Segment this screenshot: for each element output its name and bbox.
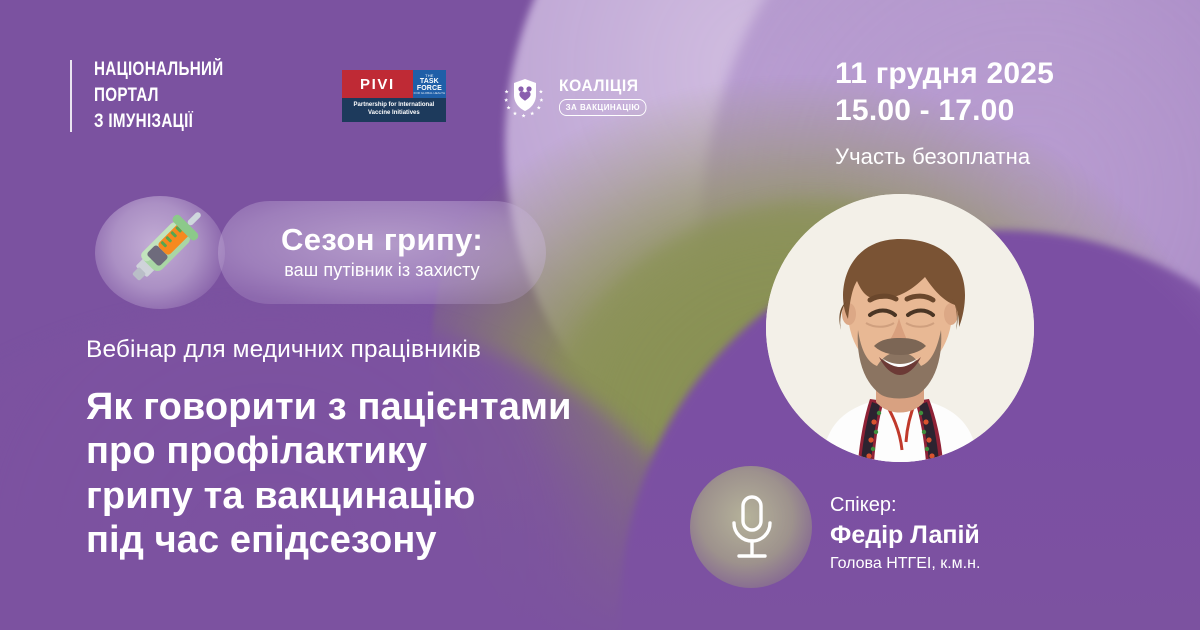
shield-with-stars-icon [502, 73, 548, 119]
headline-line-2: про профілактику [86, 429, 572, 473]
pivi-logo[interactable]: PIVI THE TASK FORCE FOR GLOBAL HEALTH Pa… [342, 70, 446, 121]
coalition-title: КОАЛІЦІЯ [559, 76, 645, 96]
headline-line-1: Як говорити з пацієнтами [86, 385, 572, 429]
speaker-photo [766, 194, 1034, 462]
logo-divider-rule [70, 60, 72, 132]
event-date-block: 11 грудня 2025 15.00 - 17.00 Участь безо… [835, 56, 1054, 170]
syringe-icon [105, 198, 217, 311]
microphone-icon [726, 494, 778, 565]
portal-logo-line-3: З ІМУНІЗАЦІЇ [94, 112, 224, 132]
national-immunization-portal-logo[interactable]: НАЦІОНАЛЬНИЙ ПОРТАЛ З ІМУНІЗАЦІЇ [70, 60, 256, 132]
task-force-mark: THE TASK FORCE FOR GLOBAL HEALTH [413, 70, 446, 98]
headline-line-3: грипу та вакцинацію [86, 474, 572, 518]
event-price-note: Участь безоплатна [835, 144, 1054, 170]
microphone-icon-backdrop [690, 466, 812, 588]
speaker-role-label: Спікер: [830, 493, 980, 518]
webinar-banner: НАЦІОНАЛЬНИЙ ПОРТАЛ З ІМУНІЗАЦІЇ PIVI TH… [0, 0, 1200, 630]
logo-row: НАЦІОНАЛЬНИЙ ПОРТАЛ З ІМУНІЗАЦІЇ PIVI TH… [70, 60, 652, 132]
speaker-title: Голова НТГЕІ, к.м.н. [830, 554, 980, 575]
pivi-tagline-line-2: Vaccine Initiatives [344, 109, 444, 117]
speaker-name: Федір Лапій [830, 519, 980, 551]
pivi-acronym: PIVI [342, 70, 413, 98]
season-badge-subtitle: ваш путівник із захисту [284, 260, 480, 281]
headline: Як говорити з пацієнтами про профілактик… [86, 385, 572, 562]
headline-line-4: під час епідсезону [86, 518, 572, 562]
vaccination-coalition-logo[interactable]: КОАЛІЦІЯ ЗА ВАКЦИНАЦІЮ [502, 73, 652, 119]
season-badge-title: Сезон грипу: [281, 224, 483, 257]
pivi-tagline: Partnership for International Vaccine In… [342, 98, 446, 121]
portal-logo-line-1: НАЦІОНАЛЬНИЙ [94, 60, 224, 80]
coalition-subtitle: ЗА ВАКЦИНАЦІЮ [559, 99, 647, 116]
season-badge-pill: Сезон грипу: ваш путівник із захисту [218, 201, 546, 304]
eyebrow-text: Вебінар для медичних працівників [86, 336, 481, 364]
event-date: 11 грудня 2025 [835, 56, 1054, 93]
portal-logo-line-2: ПОРТАЛ [94, 86, 224, 106]
task-force-global: FOR GLOBAL HEALTH [414, 92, 446, 95]
speaker-info: Спікер: Федір Лапій Голова НТГЕІ, к.м.н. [830, 493, 980, 575]
pivi-tagline-line-1: Partnership for International [344, 101, 444, 109]
event-time: 15.00 - 17.00 [835, 93, 1054, 130]
task-force-task: TASK [420, 78, 439, 85]
